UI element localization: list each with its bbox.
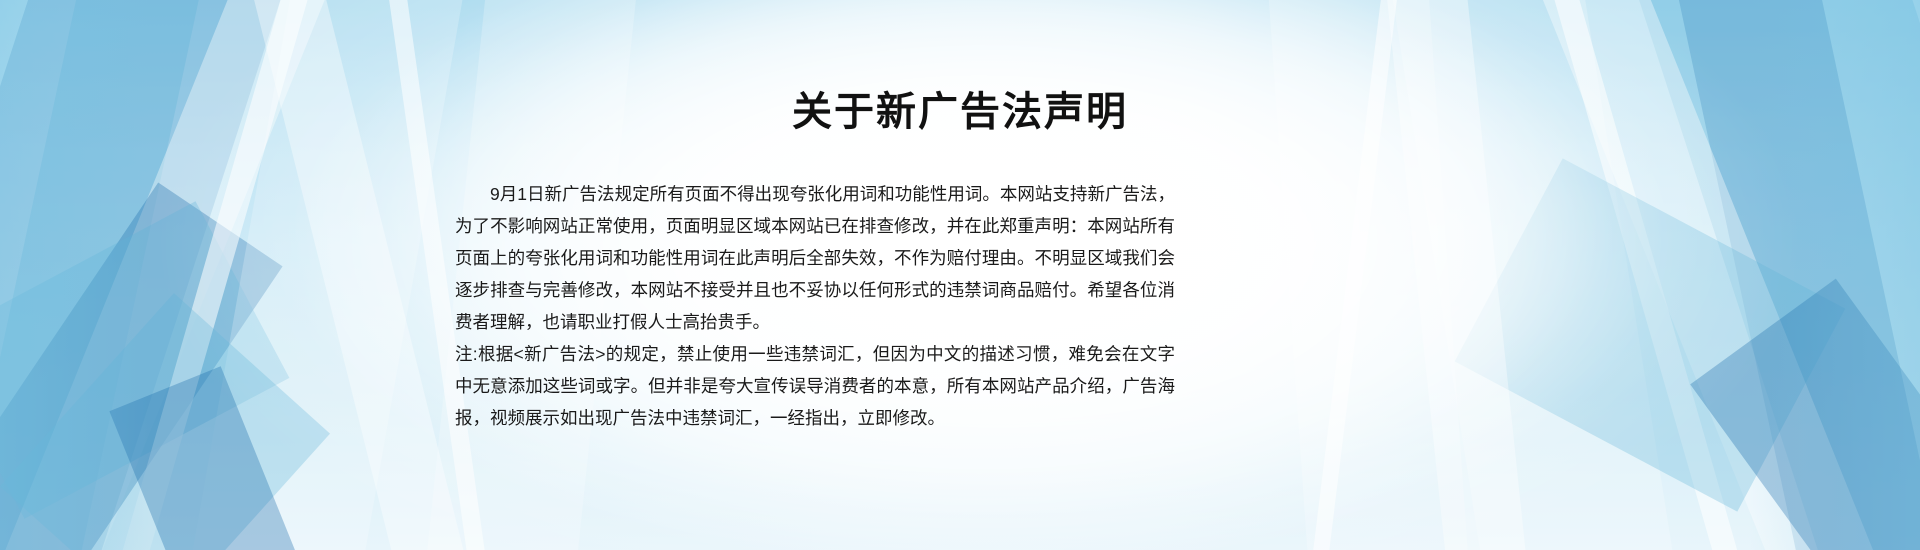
- statement-paragraph-main: 9月1日新广告法规定所有页面不得出现夸张化用词和功能性用词。本网站支持新广告法，…: [455, 178, 1175, 338]
- statement-content: 关于新广告法声明 9月1日新广告法规定所有页面不得出现夸张化用词和功能性用词。本…: [0, 0, 1920, 550]
- statement-paragraph-note: 注:根据<新广告法>的规定，禁止使用一些违禁词汇，但因为中文的描述习惯，难免会在…: [455, 338, 1175, 434]
- statement-body: 9月1日新广告法规定所有页面不得出现夸张化用词和功能性用词。本网站支持新广告法，…: [455, 178, 1175, 434]
- page-title: 关于新广告法声明: [0, 88, 1920, 136]
- advertising-law-statement-banner: 关于新广告法声明 9月1日新广告法规定所有页面不得出现夸张化用词和功能性用词。本…: [0, 0, 1920, 550]
